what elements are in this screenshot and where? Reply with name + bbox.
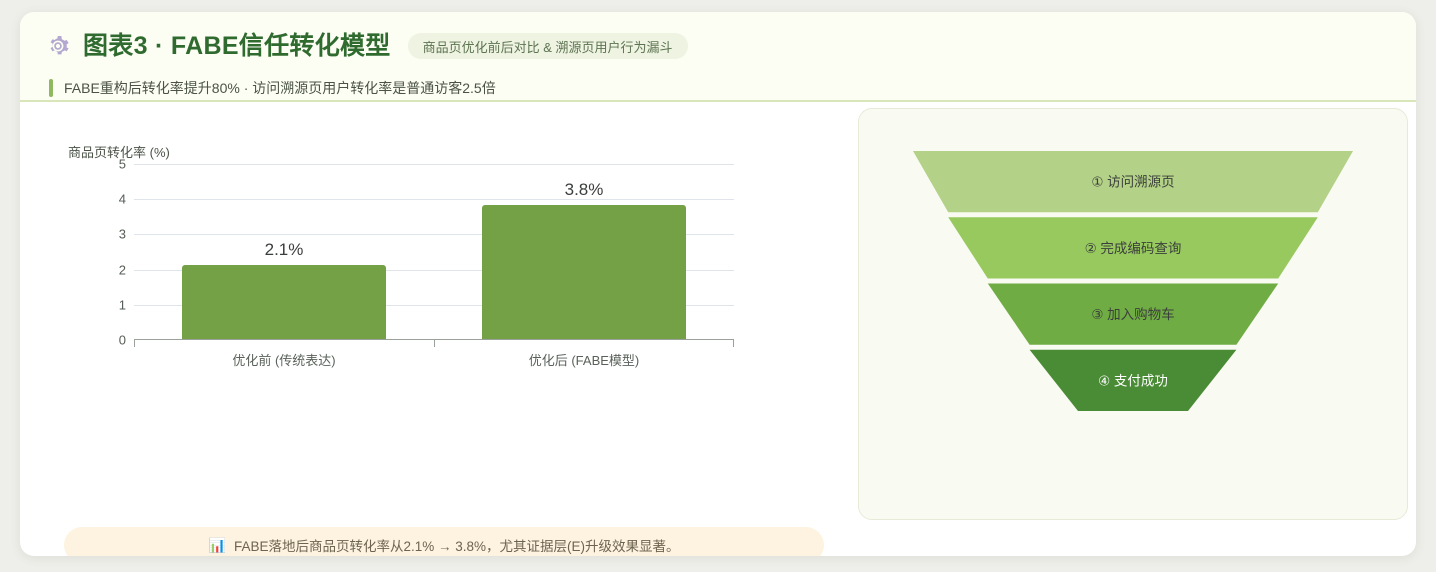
gear-icon [46,34,70,58]
x-axis-tick-label: 优化后 (FABE模型) [529,350,640,369]
y-axis-tick-label: 1 [86,297,126,312]
bar[interactable] [482,205,686,339]
funnel-segment-label: ② 完成编码查询 [1085,241,1182,256]
title-row: 图表3 · FABE信任转化模型 商品页优化前后对比 & 溯源页用户行为漏斗 [46,26,1390,66]
bar[interactable] [182,265,386,339]
card-header: 图表3 · FABE信任转化模型 商品页优化前后对比 & 溯源页用户行为漏斗 F… [20,12,1416,102]
title-badge: 商品页优化前后对比 & 溯源页用户行为漏斗 [408,33,688,59]
funnel-segment-label: ① 访问溯源页 [1091,175,1174,190]
bar-chart-note: 📊 FABE落地后商品页转化率从2.1% → 3.8%，尤其证据层(E)升级效果… [64,527,824,556]
funnel-segment-label: ③ 加入购物车 [1091,306,1174,322]
funnel-segment-label: ④ 支付成功 [1098,373,1168,388]
y-axis-tick-label: 3 [86,227,126,242]
y-axis-tick-label: 4 [86,192,126,207]
page-subtitle: FABE重构后转化率提升80% · 访问溯源页用户转化率是普通访客2.5倍 [64,81,496,95]
bar-chart-note-text: FABE落地后商品页转化率从2.1% → 3.8%，尤其证据层(E)升级效果显著… [234,535,680,555]
y-axis-tick-label: 2 [86,262,126,277]
bar-value-label: 3.8% [565,180,604,200]
chart-card: 图表3 · FABE信任转化模型 商品页优化前后对比 & 溯源页用户行为漏斗 F… [20,12,1416,556]
funnel-chart-panel: ① 访问溯源页② 完成编码查询③ 加入购物车④ 支付成功 [858,108,1408,520]
bar-chart-panel: 商品页转化率 (%) 0123452.1%优化前 (传统表达)3.8%优化后 (… [20,102,840,554]
subtitle-accent-bar [49,79,53,97]
x-axis-tick [134,340,135,347]
x-axis-tick [434,340,435,347]
y-axis-tick-label: 5 [86,157,126,172]
subtitle-row: FABE重构后转化率提升80% · 访问溯源页用户转化率是普通访客2.5倍 [46,79,1390,97]
gridline [134,199,734,200]
gridline [134,164,734,165]
x-axis-tick [733,340,734,347]
page-title: 图表3 · FABE信任转化模型 [83,34,391,59]
bar-chart-plot: 0123452.1%优化前 (传统表达)3.8%优化后 (FABE模型) [116,164,734,340]
x-axis-tick-label: 优化前 (传统表达) [232,350,335,369]
bar-value-label: 2.1% [265,240,304,260]
funnel-chart: ① 访问溯源页② 完成编码查询③ 加入购物车④ 支付成功 [913,151,1353,411]
y-axis-tick-label: 0 [86,333,126,348]
bar-chart-icon: 📊 [209,538,226,552]
card-body: 商品页转化率 (%) 0123452.1%优化前 (传统表达)3.8%优化后 (… [20,102,1416,554]
